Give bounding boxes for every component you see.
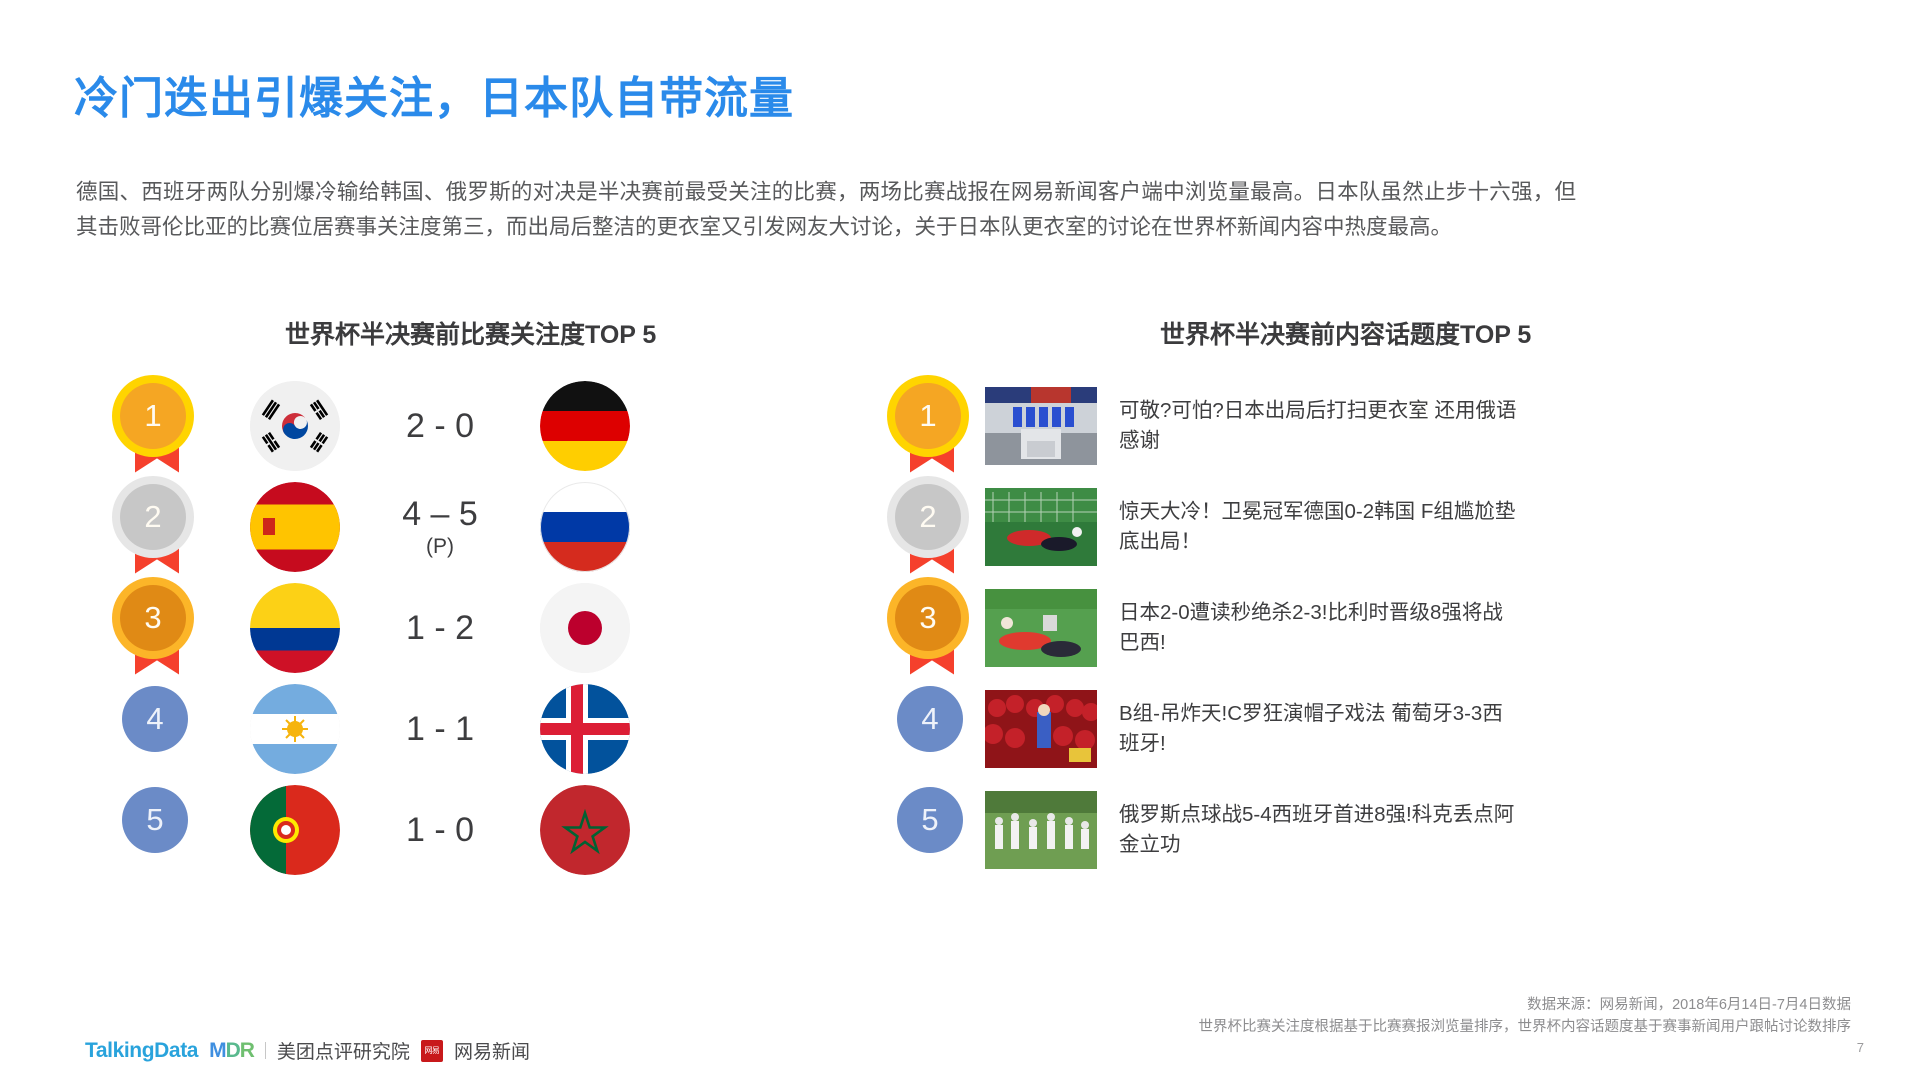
medal-icon: 1 (120, 383, 186, 449)
medal-icon: 1 (895, 383, 961, 449)
news-headline: 俄罗斯点球战5-4西班牙首进8强!科克丢点阿金立功 (1119, 800, 1519, 860)
news-headline: 惊天大冷！卫冕冠军德国0-2韩国 F组尴尬垫底出局！ (1119, 497, 1519, 557)
red-crowd-photo (985, 690, 1097, 768)
medal-icon: 2 (120, 484, 186, 550)
score-note: (P) (340, 534, 540, 560)
right-column-heading: 世界杯半决赛前内容话题度TOP 5 (1160, 315, 1531, 351)
left-column-heading: 世界杯半决赛前比赛关注度TOP 5 (285, 315, 656, 351)
list-item[interactable]: 1 可敬?可怕?日本出局后打扫更衣室 还用俄语感谢 (895, 375, 1595, 476)
table-row: 5 1 - 0 (120, 779, 880, 880)
match-score: 4 – 5(P) (340, 494, 540, 560)
logo-divider (265, 1042, 266, 1059)
logo-bar: TalkingData MDR 美团点评研究院 网易 网易新闻 (85, 1037, 530, 1064)
netease-news-logo: 网易新闻 (454, 1037, 530, 1064)
match-score: 1 - 1 (340, 709, 540, 749)
flag-iceland-icon (540, 684, 630, 774)
list-item[interactable]: 2 惊天大冷！卫冕冠军德国0-2韩国 F组尴尬垫底出局！ (895, 476, 1595, 577)
mdr-logo: MDR (209, 1039, 254, 1063)
flag-south-korea-icon (250, 381, 340, 471)
goalmouth-save-photo (985, 488, 1097, 566)
match-1-rank-badge: 1 (120, 383, 186, 469)
match-2-rank-badge: 2 (120, 484, 186, 570)
flag-portugal-icon (250, 785, 340, 875)
match-score: 1 - 2 (340, 608, 540, 648)
medal-icon: 3 (895, 585, 961, 651)
news-headline: 可敬?可怕?日本出局后打扫更衣室 还用俄语感谢 (1119, 396, 1519, 456)
pitch-players-photo (985, 589, 1097, 667)
table-row: 3 1 - 2 (120, 577, 880, 678)
page-title: 冷门迭出引爆关注，日本队自带流量 (74, 62, 794, 126)
news-5-rank-badge: 5 (895, 787, 961, 873)
flag-spain-icon (250, 482, 340, 572)
locker-room-photo (985, 387, 1097, 465)
rank-circle: 5 (897, 787, 963, 853)
talkingdata-logo: TalkingData (85, 1039, 198, 1063)
news-topic-list: 1 可敬?可怕?日本出局后打扫更衣室 还用俄语感谢 2 惊天大冷！卫冕冠军德国0… (895, 375, 1595, 880)
match-5-rank-badge: 5 (120, 787, 186, 873)
netease-badge-icon: 网易 (421, 1040, 443, 1062)
flag-japan-icon (540, 583, 630, 673)
list-item[interactable]: 3 日本2-0遭读秒绝杀2-3!比利时晋级8强将战巴西! (895, 577, 1595, 678)
list-item[interactable]: 4 B组-吊炸天!C罗狂演帽子戏法 葡萄牙3-3西班牙! (895, 678, 1595, 779)
medal-icon: 3 (120, 585, 186, 651)
rank-circle: 4 (897, 686, 963, 752)
news-2-rank-badge: 2 (895, 484, 961, 570)
source-line-2: 世界杯比赛关注度根据基于比赛赛报浏览量排序，世界杯内容话题度基于赛事新闻用户跟帖… (1199, 1016, 1852, 1038)
match-3-rank-badge: 3 (120, 585, 186, 671)
page-number: 7 (1857, 1040, 1864, 1055)
news-4-rank-badge: 4 (895, 686, 961, 772)
news-headline: 日本2-0遭读秒绝杀2-3!比利时晋级8强将战巴西! (1119, 598, 1519, 658)
table-row: 2 4 – 5(P) (120, 476, 880, 577)
news-headline: B组-吊炸天!C罗狂演帽子戏法 葡萄牙3-3西班牙! (1119, 699, 1519, 759)
flag-russia-icon (540, 482, 630, 572)
match-4-rank-badge: 4 (120, 686, 186, 772)
data-source-note: 数据来源：网易新闻，2018年6月14日-7月4日数据 世界杯比赛关注度根据基于… (1199, 994, 1852, 1038)
table-row: 4 1 - 1 (120, 678, 880, 779)
celebration-photo (985, 791, 1097, 869)
table-row: 1 2 - 0 (120, 375, 880, 476)
flag-germany-icon (540, 381, 630, 471)
flag-colombia-icon (250, 583, 340, 673)
rank-circle: 4 (122, 686, 188, 752)
match-score: 1 - 0 (340, 810, 540, 850)
flag-argentina-icon (250, 684, 340, 774)
flag-morocco-icon (540, 785, 630, 875)
match-attention-list: 1 2 - 0 2 4 – 5(P) 3 (120, 375, 880, 880)
intro-paragraph: 德国、西班牙两队分别爆冷输给韩国、俄罗斯的对决是半决赛前最受关注的比赛，两场比赛… (76, 175, 1576, 245)
slide-root: 冷门迭出引爆关注，日本队自带流量 德国、西班牙两队分别爆冷输给韩国、俄罗斯的对决… (0, 0, 1921, 1080)
medal-icon: 2 (895, 484, 961, 550)
meituan-research-logo: 美团点评研究院 (277, 1037, 410, 1064)
list-item[interactable]: 5 俄罗斯点球战5-4西班牙首进8强!科克丢点阿金立功 (895, 779, 1595, 880)
rank-circle: 5 (122, 787, 188, 853)
news-3-rank-badge: 3 (895, 585, 961, 671)
news-1-rank-badge: 1 (895, 383, 961, 469)
source-line-1: 数据来源：网易新闻，2018年6月14日-7月4日数据 (1199, 994, 1852, 1016)
match-score: 2 - 0 (340, 406, 540, 446)
